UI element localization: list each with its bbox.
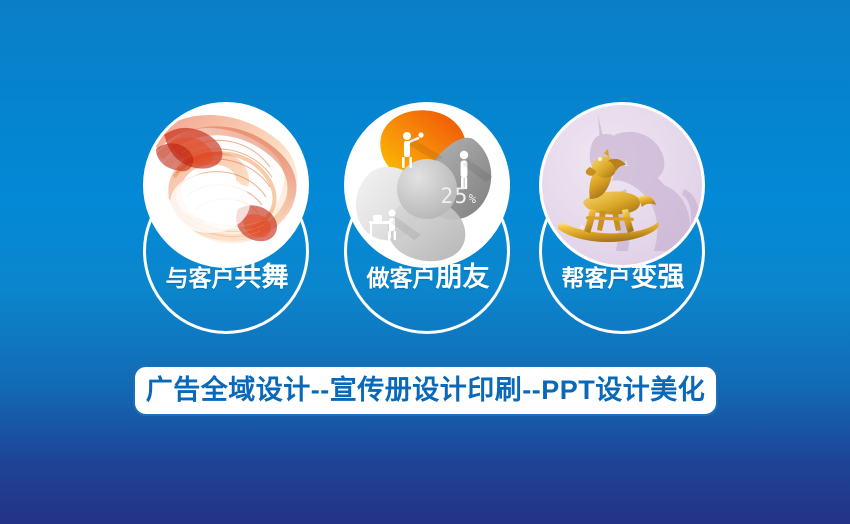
circle-label-2: 做客户朋友: [333, 264, 523, 291]
circle-label-3-plain: 帮客户: [562, 265, 631, 291]
feature-circle-be-client-friend[interactable]: 25% 做客户朋友: [333, 96, 523, 341]
circle-image-rocking-horse: [539, 102, 705, 268]
bottom-banner[interactable]: 广告全域设计--宣传册设计印刷--PPT设计美化: [133, 365, 718, 416]
feature-circle-dance-with-client[interactable]: 与客户共舞: [132, 96, 322, 341]
circle-label-1-plain: 与客户: [166, 265, 235, 291]
circle-label-1-accent: 共舞: [235, 262, 289, 292]
circle-label-3-accent: 变强: [631, 262, 685, 292]
promo-banner-canvas: 与客户共舞: [0, 0, 850, 524]
circle-label-2-accent: 朋友: [436, 262, 490, 292]
circle-label-1: 与客户共舞: [132, 264, 322, 291]
circle-label-2-plain: 做客户: [367, 265, 436, 291]
circle-image-infographic-blobs: 25%: [344, 102, 510, 268]
feature-circle-make-client-stronger[interactable]: 帮客户变强: [528, 96, 718, 341]
circle-label-3: 帮客户变强: [528, 264, 718, 291]
circle-image-red-smoke-swirl: [143, 102, 309, 268]
banner-text: 广告全域设计--宣传册设计印刷--PPT设计美化: [146, 377, 705, 404]
